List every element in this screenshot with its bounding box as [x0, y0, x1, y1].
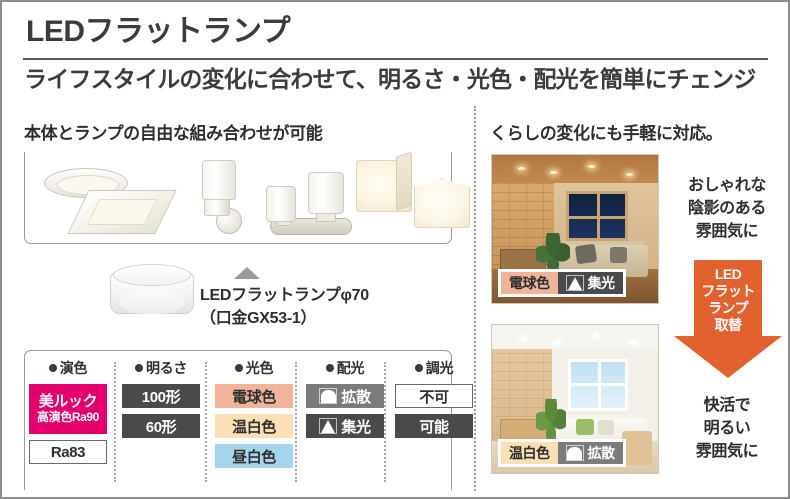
spec-chip-daylight-white[interactable]: 昼白色 — [215, 444, 293, 468]
spec-separator — [205, 362, 207, 482]
diffuse-icon — [566, 445, 584, 461]
up-arrow-icon — [234, 267, 260, 279]
spot-icon — [319, 418, 337, 434]
caption-day-line2: 明るい — [666, 417, 788, 440]
spec-chip-diffuse[interactable]: 拡散 — [306, 384, 384, 408]
diffuse-icon — [319, 388, 337, 404]
caption-night-line1: おしゃれな — [666, 174, 788, 197]
bullet-icon — [235, 364, 243, 372]
caption-day-line3: 雰囲気に — [666, 440, 788, 463]
header-divider — [23, 58, 768, 60]
caption-night: おしゃれな 陰影のある 雰囲気に — [666, 174, 788, 244]
lamp-caption-line2: （口金GX53-1） — [200, 307, 369, 330]
spec-chip-100w[interactable]: 100形 — [122, 384, 200, 408]
arrow-label-line3: ランプ — [674, 300, 782, 317]
arrow-label: LED フラット ランプ 取替 — [674, 266, 782, 334]
fixture-illustrations — [26, 154, 452, 242]
spec-chip-ra83[interactable]: Ra83 — [29, 440, 107, 464]
spec-column-header: 明るさ — [135, 358, 187, 378]
arrow-down-icon — [674, 336, 782, 378]
bullet-icon — [49, 364, 57, 372]
spec-column-distribution: 配光 拡散 集光 — [303, 358, 387, 486]
photo-night-badges: 電球色 集光 — [498, 269, 626, 297]
cube-ceiling-light-icon — [356, 160, 412, 212]
bullet-icon — [415, 364, 423, 372]
spec-chip-60w[interactable]: 60形 — [122, 414, 200, 438]
spec-chip-dimmable[interactable]: 可能 — [395, 414, 473, 438]
spec-chip-spot[interactable]: 集光 — [306, 414, 384, 438]
bullet-icon — [135, 364, 143, 372]
badge-light-color-night: 電球色 — [501, 272, 558, 294]
caption-day-line1: 快活で — [666, 394, 788, 417]
caption-day: 快活で 明るい 雰囲気に — [666, 394, 788, 464]
dome-ceiling-light-icon — [414, 178, 470, 228]
window-night-icon — [566, 191, 628, 241]
caption-night-line2: 陰影のある — [666, 197, 788, 220]
replace-lamp-arrow: LED フラット ランプ 取替 — [674, 260, 782, 378]
room-photo-night: 電球色 集光 — [491, 154, 659, 304]
infographic-page: LEDフラットランプ ライフスタイルの変化に合わせて、明るさ・光色・配光を簡単に… — [0, 0, 790, 499]
spec-column-brightness: 明るさ 100形 60形 — [119, 358, 203, 486]
left-section-title: 本体とランプの自由な組み合わせが可能 — [24, 119, 322, 144]
spec-column-color-rendering: 演色 美ルック 高演色Ra90 Ra83 — [26, 358, 110, 486]
badge-distribution-day: 拡散 — [558, 442, 623, 464]
spotlight-double-icon — [262, 170, 356, 240]
window-day-icon — [568, 359, 628, 411]
spec-chip-not-dimmable[interactable]: 不可 — [395, 384, 473, 408]
spec-column-light-color: 光色 電球色 温白色 昼白色 — [212, 358, 296, 486]
right-section-title: くらしの変化にも手軽に対応。 — [490, 119, 722, 144]
spec-column-dimming: 調光 不可 可能 — [392, 358, 476, 486]
spec-chip-bi-look[interactable]: 美ルック 高演色Ra90 — [29, 384, 107, 434]
spec-separator — [114, 362, 116, 482]
spec-chip-soft-white[interactable]: 温白色 — [215, 414, 293, 438]
arrow-label-line2: フラット — [674, 283, 782, 300]
lamp-caption-line1: LEDフラットランプφ70 — [200, 284, 369, 307]
lamp-caption: LEDフラットランプφ70 （口金GX53-1） — [200, 284, 369, 330]
page-title: LEDフラットランプ — [26, 15, 290, 48]
page-subtitle: ライフスタイルの変化に合わせて、明るさ・光色・配光を簡単にチェンジ — [24, 66, 755, 94]
photo-day-badges: 温白色 拡散 — [498, 439, 626, 467]
badge-distribution-night: 集光 — [558, 272, 623, 294]
badge-light-color-day: 温白色 — [501, 442, 558, 464]
flat-lamp-icon — [110, 264, 194, 320]
caption-night-line3: 雰囲気に — [666, 220, 788, 243]
spec-chip-warm-white[interactable]: 電球色 — [215, 384, 293, 408]
room-photo-day: 温白色 拡散 — [491, 324, 659, 474]
spec-table: 演色 美ルック 高演色Ra90 Ra83 明るさ 100形 60形 光色 電球色… — [26, 358, 450, 486]
spec-column-header: 調光 — [415, 358, 453, 378]
spec-column-header: 演色 — [49, 358, 87, 378]
spec-column-header: 配光 — [326, 358, 364, 378]
bracket-light-icon — [194, 160, 250, 236]
spot-icon — [566, 275, 584, 291]
arrow-label-line1: LED — [674, 266, 782, 283]
arrow-label-line4: 取替 — [674, 317, 782, 334]
spec-column-header: 光色 — [235, 358, 273, 378]
bullet-icon — [326, 364, 334, 372]
